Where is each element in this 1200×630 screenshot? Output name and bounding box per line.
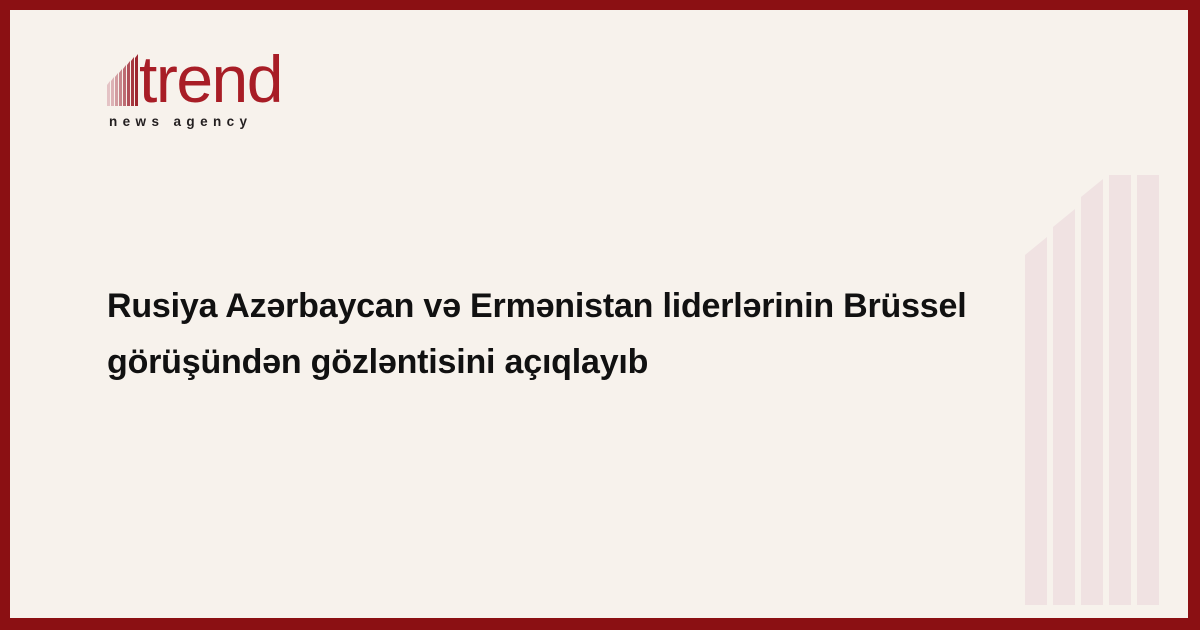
logo-bar xyxy=(131,61,134,106)
watermark-bar xyxy=(1081,197,1103,605)
logo-bar xyxy=(111,81,114,106)
logo-wordmark: trend xyxy=(139,46,282,112)
logo-bar xyxy=(107,85,110,106)
logo-bar xyxy=(123,69,126,106)
ascending-bars-watermark-icon xyxy=(1025,175,1175,605)
logo-bar xyxy=(115,77,118,106)
watermark-bar xyxy=(1053,227,1075,605)
logo-bar xyxy=(119,73,122,106)
logo-bar xyxy=(135,58,138,106)
logo-tagline: news agency xyxy=(109,114,252,129)
trend-news-agency-logo[interactable]: trend news agency xyxy=(107,52,337,144)
ascending-bars-icon xyxy=(107,58,143,106)
article-card: trend news agency Rusiya Azərbaycan və E… xyxy=(10,10,1188,618)
watermark-bar xyxy=(1109,175,1131,605)
page-title: Rusiya Azərbaycan və Ermənistan liderlər… xyxy=(107,278,1012,390)
logo-bar xyxy=(127,65,130,106)
watermark-bar xyxy=(1137,175,1159,605)
watermark-bar xyxy=(1025,255,1047,605)
logo-mark-and-word: trend xyxy=(107,52,337,114)
